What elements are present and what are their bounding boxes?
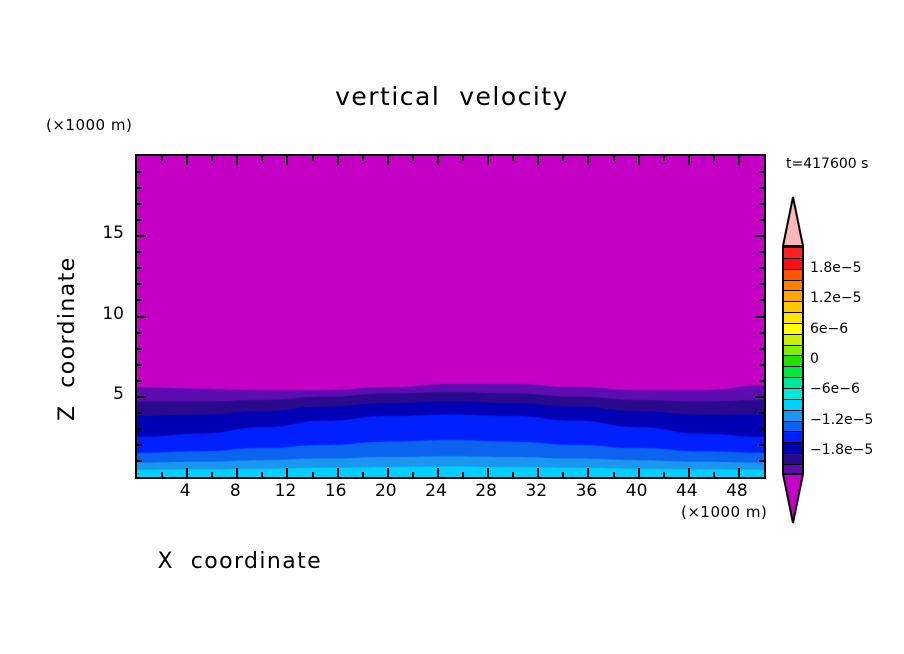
y-axis-tick-major — [137, 316, 146, 318]
x-axis-tick-minor — [211, 472, 213, 477]
y-axis-tick-right-major — [755, 316, 764, 318]
x-axis-tick-top-major — [286, 156, 288, 165]
colorbar-tick-label: 0 — [810, 351, 819, 367]
y-axis-tick-right-minor — [759, 171, 764, 173]
x-axis-tick-top-major — [337, 156, 339, 165]
x-axis-tick-minor — [562, 472, 564, 477]
x-axis-tick-top-major — [688, 156, 690, 165]
y-axis-tick-minor — [137, 428, 142, 430]
x-axis-tick-label: 20 — [366, 481, 406, 501]
x-axis-tick-top-minor — [613, 156, 615, 161]
x-axis-tick-minor — [462, 472, 464, 477]
x-axis-tick-label: 28 — [466, 481, 506, 501]
x-axis-tick-minor — [713, 472, 715, 477]
x-axis-tick-label: 32 — [516, 481, 556, 501]
y-axis-tick-right-minor — [759, 332, 764, 334]
colorbar-band — [784, 454, 802, 465]
x-axis-tick-major — [236, 468, 238, 477]
colorbar-band — [784, 378, 802, 389]
figure-canvas: vertical velocity (×1000 m) Z coordinate… — [0, 0, 904, 654]
x-axis-tick-major — [387, 468, 389, 477]
y-axis-tick-minor — [137, 348, 142, 350]
y-axis-tick-minor — [137, 332, 142, 334]
x-axis-tick-top-minor — [512, 156, 514, 161]
y-axis-tick-right-minor — [759, 428, 764, 430]
y-axis-tick-minor — [137, 203, 142, 205]
colorbar-band — [784, 302, 802, 313]
x-axis-title: X coordinate — [0, 524, 904, 599]
colorbar-band — [784, 400, 802, 411]
colorbar-tick-label: −1.8e−5 — [810, 442, 873, 458]
colorbar-band — [784, 367, 802, 378]
y-axis-tick-minor — [137, 460, 142, 462]
x-axis-tick-top-minor — [261, 156, 263, 161]
colorbar-band — [784, 422, 802, 433]
y-axis-tick-right-minor — [759, 267, 764, 269]
y-axis-tick-minor — [137, 380, 142, 382]
page-title: vertical velocity — [0, 82, 904, 111]
colorbar-overflow-high-arrow — [782, 196, 804, 247]
x-axis-tick-minor — [261, 472, 263, 477]
x-axis-tick-top-minor — [412, 156, 414, 161]
y-axis-tick-label: 5 — [92, 384, 124, 404]
colorbar-tick-label: 6e−6 — [810, 321, 848, 337]
y-axis-tick-right-minor — [759, 412, 764, 414]
colorbar-bands — [782, 246, 804, 474]
x-axis-tick-minor — [613, 472, 615, 477]
time-annotation: t=417600 s — [786, 156, 868, 172]
x-axis-tick-major — [487, 468, 489, 477]
y-axis-tick-minor — [137, 444, 142, 446]
colorbar-band — [784, 248, 802, 259]
x-axis-tick-major — [537, 468, 539, 477]
y-axis-tick-right-minor — [759, 299, 764, 301]
x-axis-tick-label: 48 — [717, 481, 757, 501]
y-axis-tick-right-minor — [759, 444, 764, 446]
y-axis-tick-right-major — [755, 235, 764, 237]
y-axis-tick-right-minor — [759, 364, 764, 366]
y-axis-tick-minor — [137, 251, 142, 253]
x-axis-tick-label: 36 — [566, 481, 606, 501]
x-axis-tick-label: 8 — [215, 481, 255, 501]
y-axis-tick-right-minor — [759, 348, 764, 350]
x-axis-tick-label: 24 — [416, 481, 456, 501]
x-axis-tick-top-minor — [663, 156, 665, 161]
x-axis-tick-top-minor — [362, 156, 364, 161]
x-axis-tick-major — [688, 468, 690, 477]
y-axis-tick-minor — [137, 219, 142, 221]
colorbar-band — [784, 259, 802, 270]
x-axis-tick-top-major — [638, 156, 640, 165]
x-axis-tick-top-minor — [211, 156, 213, 161]
x-axis-tick-top-minor — [713, 156, 715, 161]
y-axis-tick-major — [137, 396, 146, 398]
x-axis-tick-top-major — [186, 156, 188, 165]
y-axis-tick-right-minor — [759, 187, 764, 189]
x-axis-tick-top-major — [487, 156, 489, 165]
y-axis-tick-minor — [137, 187, 142, 189]
y-axis-tick-minor — [137, 299, 142, 301]
y-axis-tick-right-minor — [759, 460, 764, 462]
y-axis-tick-right-minor — [759, 380, 764, 382]
x-axis-tick-top-minor — [312, 156, 314, 161]
x-axis-tick-major — [337, 468, 339, 477]
y-axis-title: Z coordinate — [55, 234, 85, 444]
plot-area — [135, 154, 766, 479]
y-axis-tick-label: 10 — [92, 304, 124, 324]
x-axis-tick-minor — [512, 472, 514, 477]
x-axis-tick-label: 12 — [265, 481, 305, 501]
colorbar-band — [784, 356, 802, 367]
x-axis-tick-minor — [412, 472, 414, 477]
colorbar-tick-label: −1.2e−5 — [810, 412, 873, 428]
x-axis-tick-major — [587, 468, 589, 477]
x-axis-title-text: X coordinate — [157, 549, 322, 574]
y-axis-tick-right-minor — [759, 283, 764, 285]
x-axis-tick-label: 16 — [316, 481, 356, 501]
y-axis-tick-label: 15 — [92, 223, 124, 243]
x-axis-tick-minor — [312, 472, 314, 477]
colorbar-overflow-low-arrow — [782, 473, 804, 524]
colorbar-tick-label: 1.2e−5 — [810, 290, 862, 306]
colorbar-band — [784, 270, 802, 281]
x-axis-tick-minor — [663, 472, 665, 477]
y-axis-unit-label: (×1000 m) — [46, 116, 132, 134]
colorbar-band — [784, 335, 802, 346]
x-axis-tick-top-major — [738, 156, 740, 165]
colorbar-band — [784, 291, 802, 302]
x-axis-tick-minor — [161, 472, 163, 477]
y-axis-tick-right-minor — [759, 203, 764, 205]
x-axis-tick-top-major — [387, 156, 389, 165]
colorbar: 1.8e−51.2e−56e−60−6e−6−1.2e−5−1.8e−5 — [778, 196, 808, 524]
x-axis-tick-major — [286, 468, 288, 477]
x-axis-tick-major — [437, 468, 439, 477]
x-axis-tick-label: 44 — [667, 481, 707, 501]
y-axis-tick-right-major — [755, 396, 764, 398]
y-axis-tick-right-minor — [759, 219, 764, 221]
colorbar-band — [784, 281, 802, 292]
x-axis-tick-major — [186, 468, 188, 477]
colorbar-band — [784, 313, 802, 324]
y-axis-tick-minor — [137, 412, 142, 414]
colorbar-band — [784, 389, 802, 400]
x-axis-tick-major — [738, 468, 740, 477]
x-axis-tick-top-major — [587, 156, 589, 165]
colorbar-band — [784, 411, 802, 422]
x-axis-tick-top-minor — [562, 156, 564, 161]
y-axis-tick-right-minor — [759, 251, 764, 253]
y-axis-tick-major — [137, 235, 146, 237]
x-axis-tick-label: 4 — [165, 481, 205, 501]
x-axis-tick-top-major — [236, 156, 238, 165]
y-axis-tick-minor — [137, 171, 142, 173]
colorbar-band — [784, 443, 802, 454]
colorbar-band — [784, 432, 802, 443]
x-axis-tick-top-minor — [161, 156, 163, 161]
colorbar-band — [784, 324, 802, 335]
x-axis-tick-minor — [362, 472, 364, 477]
contour-field — [137, 156, 764, 477]
x-axis-unit-label: (×1000 m) — [681, 503, 767, 521]
x-axis-tick-label: 40 — [617, 481, 657, 501]
colorbar-band — [784, 346, 802, 357]
x-axis-tick-top-major — [537, 156, 539, 165]
y-axis-tick-minor — [137, 267, 142, 269]
x-axis-tick-major — [638, 468, 640, 477]
y-axis-tick-minor — [137, 364, 142, 366]
colorbar-tick-label: 1.8e−5 — [810, 260, 862, 276]
y-axis-tick-minor — [137, 283, 142, 285]
x-axis-tick-top-major — [437, 156, 439, 165]
x-axis-tick-top-minor — [462, 156, 464, 161]
colorbar-tick-label: −6e−6 — [810, 381, 860, 397]
